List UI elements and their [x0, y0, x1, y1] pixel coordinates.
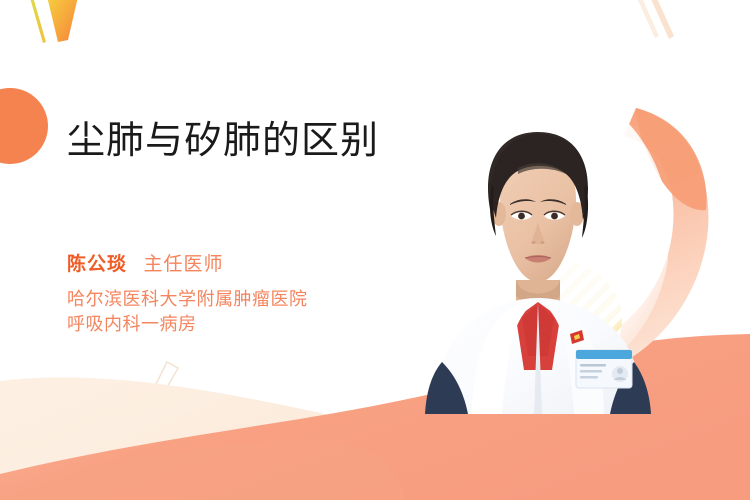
- doctor-portrait-svg: [408, 84, 668, 414]
- diagonal-orange-wedge-top-left: [45, 0, 80, 42]
- page-title: 尘肺与矽肺的区别: [67, 117, 379, 165]
- doctor-name: 陈公琰: [67, 254, 127, 275]
- affiliation-department: 呼吸内科一病房: [67, 312, 308, 337]
- left-nostril: [532, 241, 536, 244]
- cover-slide: 尘肺与矽肺的区别 陈公琰 主任医师 哈尔滨医科大学附属肿瘤医院 呼吸内科一病房: [0, 0, 750, 500]
- affiliation: 哈尔滨医科大学附属肿瘤医院 呼吸内科一病房: [67, 287, 308, 337]
- right-nostril: [541, 241, 545, 244]
- faint-diagonal-strokes-top-right: [637, 0, 674, 39]
- diagonal-yellow-line-top-left: [28, 0, 46, 43]
- doctor-role: 主任医师: [143, 254, 223, 275]
- id-badge: [576, 350, 632, 388]
- byline: 陈公琰 主任医师: [67, 249, 223, 276]
- affiliation-hospital: 哈尔滨医科大学附属肿瘤医院: [67, 287, 308, 312]
- doctor-portrait: [408, 84, 668, 414]
